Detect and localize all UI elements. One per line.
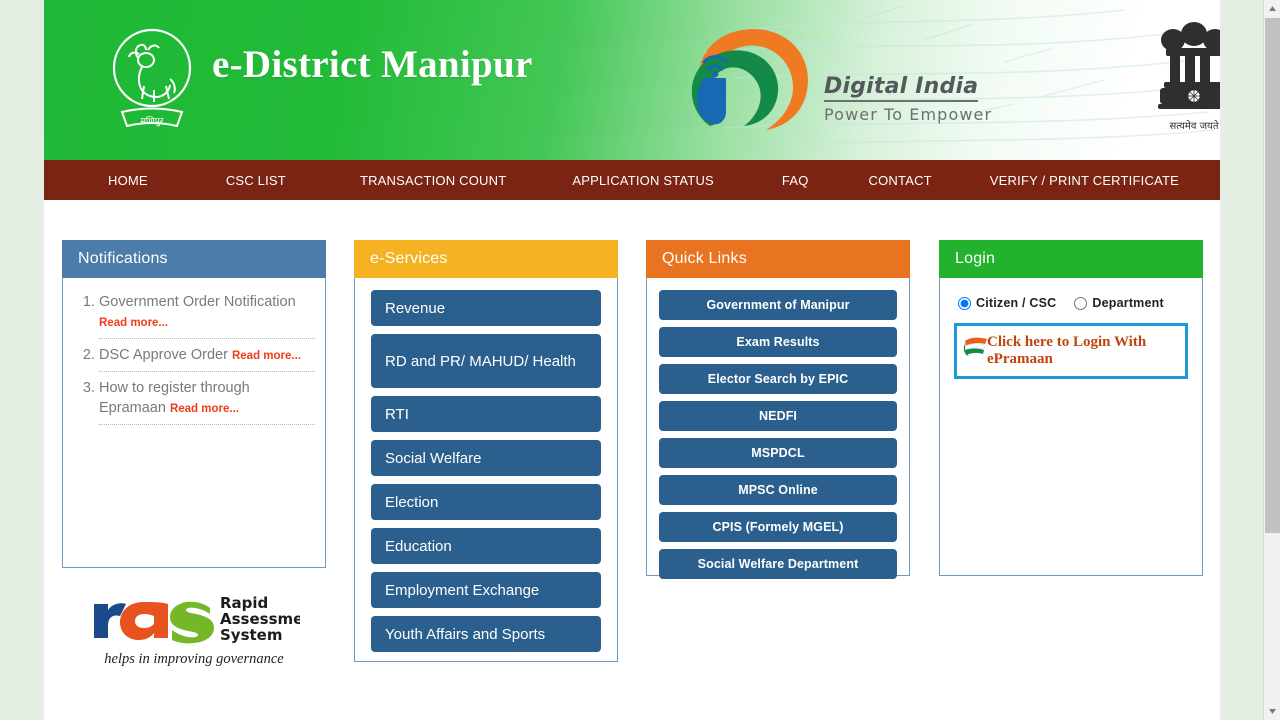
svg-text:मणिपुर: मणिपुर xyxy=(140,115,163,127)
eservices-heading: e-Services xyxy=(354,240,618,278)
notifications-body: Government Order Notification Read more.… xyxy=(62,278,326,568)
ashoka-pillar-emblem-icon xyxy=(1152,18,1220,123)
main-content: Notifications Government Order Notificat… xyxy=(44,200,1220,720)
epramaan-login-button[interactable]: Click here to Login With ePramaan xyxy=(954,323,1188,379)
nav-item-transaction-count[interactable]: TRANSACTION COUNT xyxy=(358,173,508,188)
quicklink-button-government-of-manipur[interactable]: Government of Manipur xyxy=(659,290,897,320)
digital-india-title: Digital India xyxy=(824,74,978,102)
site-title: e-District Manipur xyxy=(212,42,533,87)
quicklink-button-mspdcl[interactable]: MSPDCL xyxy=(659,438,897,468)
eservice-button-revenue[interactable]: Revenue xyxy=(371,290,601,326)
quicklink-button-mpsc-online[interactable]: MPSC Online xyxy=(659,475,897,505)
eservice-button-rti[interactable]: RTI xyxy=(371,396,601,432)
radio-citizen-csc-label[interactable]: Citizen / CSC xyxy=(976,296,1056,310)
quicklinks-heading: Quick Links xyxy=(646,240,910,278)
nav-item-verify-print-certificate[interactable]: VERIFY / PRINT CERTIFICATE xyxy=(988,173,1181,188)
epramaan-logo-icon xyxy=(963,335,989,359)
eservice-button-social-welfare[interactable]: Social Welfare xyxy=(371,440,601,476)
page-content-area: मणिपुर e-District Manipur Digital India … xyxy=(44,0,1220,720)
quicklinks-body: Government of Manipur Exam Results Elect… xyxy=(646,278,910,576)
eservice-button-rd-pr-mahud-health[interactable]: RD and PR/ MAHUD/ Health xyxy=(371,334,601,388)
notifications-heading: Notifications xyxy=(62,240,326,278)
quicklink-button-social-welfare-department[interactable]: Social Welfare Department xyxy=(659,549,897,579)
notification-item: How to register through Epramaan Read mo… xyxy=(99,378,315,425)
notifications-list: Government Order Notification Read more.… xyxy=(73,292,315,425)
login-body: Citizen / CSC Department Click here to L… xyxy=(939,278,1203,576)
satyameva-jayate-caption: सत्यमेव जयते xyxy=(1152,118,1220,132)
manipur-state-emblem-icon: मणिपुर xyxy=(108,24,196,136)
login-panel: Login Citizen / CSC Department xyxy=(939,240,1203,576)
radio-department-label[interactable]: Department xyxy=(1092,296,1163,310)
browser-viewport: मणिपुर e-District Manipur Digital India … xyxy=(0,0,1263,720)
quicklink-button-exam-results[interactable]: Exam Results xyxy=(659,327,897,357)
radio-citizen-csc[interactable] xyxy=(958,297,971,310)
eservices-body: Revenue RD and PR/ MAHUD/ Health RTI Soc… xyxy=(354,278,618,662)
eservice-button-election[interactable]: Election xyxy=(371,484,601,520)
quicklink-button-nedfi[interactable]: NEDFI xyxy=(659,401,897,431)
digital-india-subtitle: Power To Empower xyxy=(824,105,992,124)
quicklink-button-cpis[interactable]: CPIS (Formely MGEL) xyxy=(659,512,897,542)
nav-item-home[interactable]: HOME xyxy=(106,173,150,188)
nav-item-csc-list[interactable]: CSC LIST xyxy=(224,173,288,188)
nav-item-faq[interactable]: FAQ xyxy=(780,173,811,188)
notifications-panel: Notifications Government Order Notificat… xyxy=(62,240,326,568)
digital-india-text: Digital India Power To Empower xyxy=(824,74,992,124)
quicklink-button-elector-search-by-epic[interactable]: Elector Search by EPIC xyxy=(659,364,897,394)
login-user-type-group: Citizen / CSC Department xyxy=(954,296,1188,310)
notification-text: DSC Approve Order xyxy=(99,347,228,363)
ras-word-system: System xyxy=(220,626,282,644)
eservice-button-youth-affairs-and-sports[interactable]: Youth Affairs and Sports xyxy=(371,616,601,652)
main-navigation: HOME CSC LIST TRANSACTION COUNT APPLICAT… xyxy=(44,160,1220,200)
login-heading: Login xyxy=(939,240,1203,278)
eservices-panel: e-Services Revenue RD and PR/ MAHUD/ Hea… xyxy=(354,240,618,662)
eservice-button-education[interactable]: Education xyxy=(371,528,601,564)
radio-department[interactable] xyxy=(1074,297,1087,310)
ras-tagline: helps in improving governance xyxy=(62,651,326,668)
vertical-scrollbar[interactable] xyxy=(1263,0,1280,720)
scroll-down-arrow-icon[interactable] xyxy=(1264,703,1280,720)
notification-text: Government Order Notification xyxy=(99,294,296,310)
scroll-up-arrow-icon[interactable] xyxy=(1264,0,1280,17)
notification-read-more-link[interactable]: Read more... xyxy=(232,350,301,362)
epramaan-login-label: Click here to Login With ePramaan xyxy=(987,334,1177,368)
quicklinks-panel: Quick Links Government of Manipur Exam R… xyxy=(646,240,910,576)
nav-item-application-status[interactable]: APPLICATION STATUS xyxy=(570,173,716,188)
scrollbar-thumb[interactable] xyxy=(1265,18,1280,533)
ras-logo-icon: Rapid Assessment System xyxy=(88,588,300,644)
site-header-banner: मणिपुर e-District Manipur Digital India … xyxy=(44,0,1220,160)
notification-read-more-link[interactable]: Read more... xyxy=(170,403,239,415)
eservice-button-employment-exchange[interactable]: Employment Exchange xyxy=(371,572,601,608)
ras-logo-block: Rapid Assessment System helps in improvi… xyxy=(62,588,326,680)
notification-read-more-link[interactable]: Read more... xyxy=(99,317,168,329)
notification-item: DSC Approve Order Read more... xyxy=(99,345,315,372)
notification-item: Government Order Notification Read more.… xyxy=(99,292,315,339)
nav-item-contact[interactable]: CONTACT xyxy=(867,173,934,188)
